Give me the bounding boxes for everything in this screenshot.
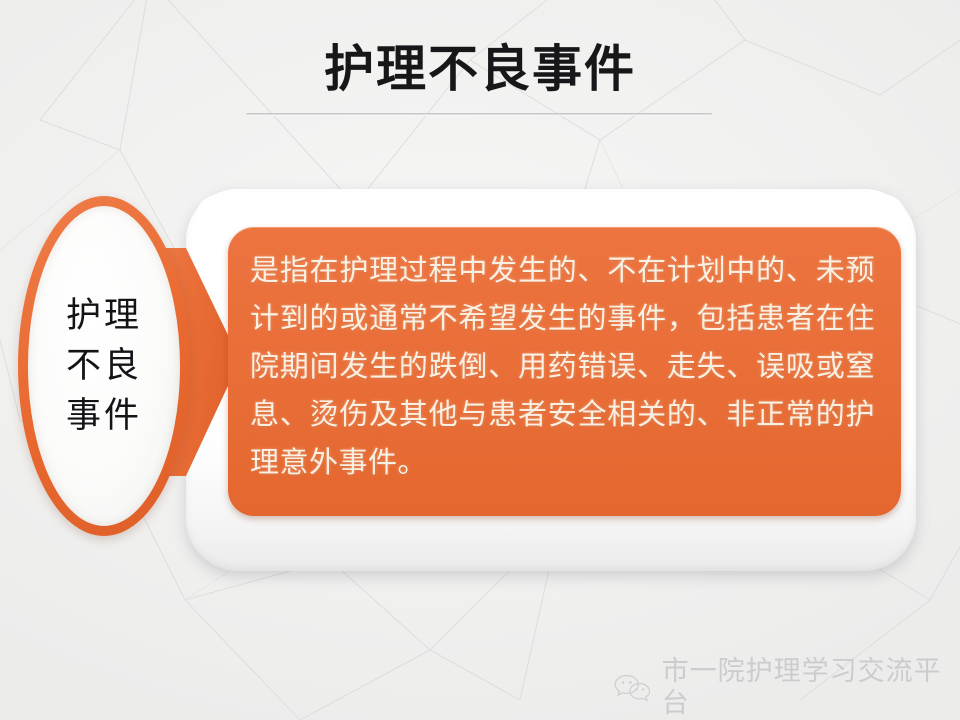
- footer-watermark: 市一院护理学习交流平台: [612, 656, 960, 720]
- page-title: 护理不良事件: [324, 40, 636, 98]
- badge-line-2: 不良: [66, 341, 142, 391]
- badge-line-1: 护理: [66, 291, 142, 341]
- badge-oval-inner: 护理 不良 事件: [28, 206, 180, 526]
- badge-line-3: 事件: [66, 391, 142, 441]
- badge-oval: 护理 不良 事件: [18, 196, 190, 536]
- slide-canvas: 护理不良事件 护理 不良 事件 是指在护理过程中发生的、不在计划中的、未预计到的…: [0, 0, 960, 720]
- definition-body-text: 是指在护理过程中发生的、不在计划中的、未预计到的或通常不希望发生的事件，包括患者…: [250, 246, 875, 486]
- page-title-container: 护理不良事件: [0, 40, 960, 98]
- title-underline-divider: [246, 113, 712, 116]
- watermark-text: 市一院护理学习交流平台: [662, 656, 960, 720]
- definition-panel: 是指在护理过程中发生的、不在计划中的、未预计到的或通常不希望发生的事件，包括患者…: [228, 227, 901, 516]
- wechat-logo: [612, 672, 653, 704]
